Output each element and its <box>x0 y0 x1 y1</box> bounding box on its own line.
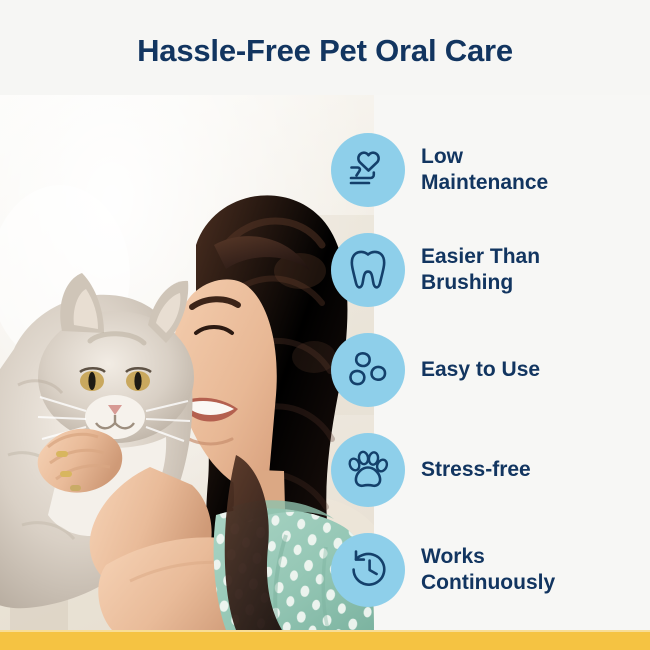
clock-arrow-icon <box>345 547 391 593</box>
title-bar: Hassle-Free Pet Oral Care <box>0 0 650 95</box>
benefit-badge <box>331 233 405 307</box>
benefit-item-works-continuously[interactable]: Works Continuously <box>331 533 555 607</box>
benefit-label: Stress-free <box>421 457 531 483</box>
benefit-label: Easier Than Brushing <box>421 244 540 295</box>
benefit-item-easier-than-brushing[interactable]: Easier Than Brushing <box>331 233 540 307</box>
promo-poster: Hassle-Free Pet Oral Care <box>0 0 650 650</box>
benefit-item-stress-free[interactable]: Stress-free <box>331 433 531 507</box>
benefit-badge <box>331 533 405 607</box>
benefit-badge <box>331 333 405 407</box>
benefit-badge <box>331 433 405 507</box>
benefit-item-easy-to-use[interactable]: Easy to Use <box>331 333 540 407</box>
footer-accent-bar <box>0 630 650 650</box>
benefit-item-low-maintenance[interactable]: Low Maintenance <box>331 133 548 207</box>
heart-in-hand-icon <box>345 147 391 193</box>
benefits-list: Low Maintenance Easier Than Brushing Eas… <box>0 95 650 630</box>
benefit-badge <box>331 133 405 207</box>
footer-accent-highlight <box>0 630 650 632</box>
page-title: Hassle-Free Pet Oral Care <box>137 27 513 69</box>
benefit-label: Easy to Use <box>421 357 540 383</box>
tooth-icon <box>346 247 390 293</box>
benefit-label: Works Continuously <box>421 544 555 595</box>
chews-icon <box>345 348 391 392</box>
benefit-label: Low Maintenance <box>421 144 548 195</box>
paw-print-icon <box>345 447 391 493</box>
